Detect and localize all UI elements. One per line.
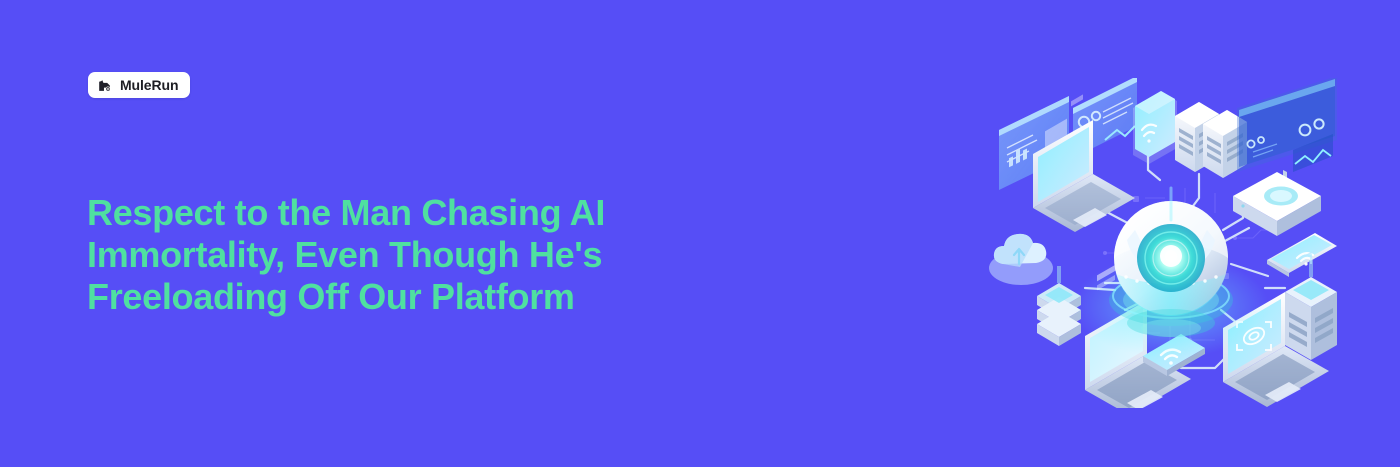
tablet-right	[1267, 233, 1337, 277]
cloud-left	[989, 234, 1053, 285]
brand-name-label: MuleRun	[120, 78, 178, 92]
server-towers-top-center	[1175, 102, 1247, 178]
cable-server-top	[1190, 174, 1199, 210]
page-title: Respect to the Man Chasing AI Immortalit…	[87, 192, 687, 318]
ai-network-illustration	[985, 78, 1355, 408]
hero-banner: MuleRun Respect to the Man Chasing AI Im…	[0, 0, 1400, 467]
mule-logo-icon	[96, 77, 113, 94]
cable-router	[1225, 228, 1249, 241]
monitor-dashboard-top-right	[1237, 78, 1337, 186]
brand-logo-badge[interactable]: MuleRun	[88, 72, 190, 98]
smartphone-top-center	[1133, 91, 1177, 164]
router-right	[1233, 172, 1321, 236]
